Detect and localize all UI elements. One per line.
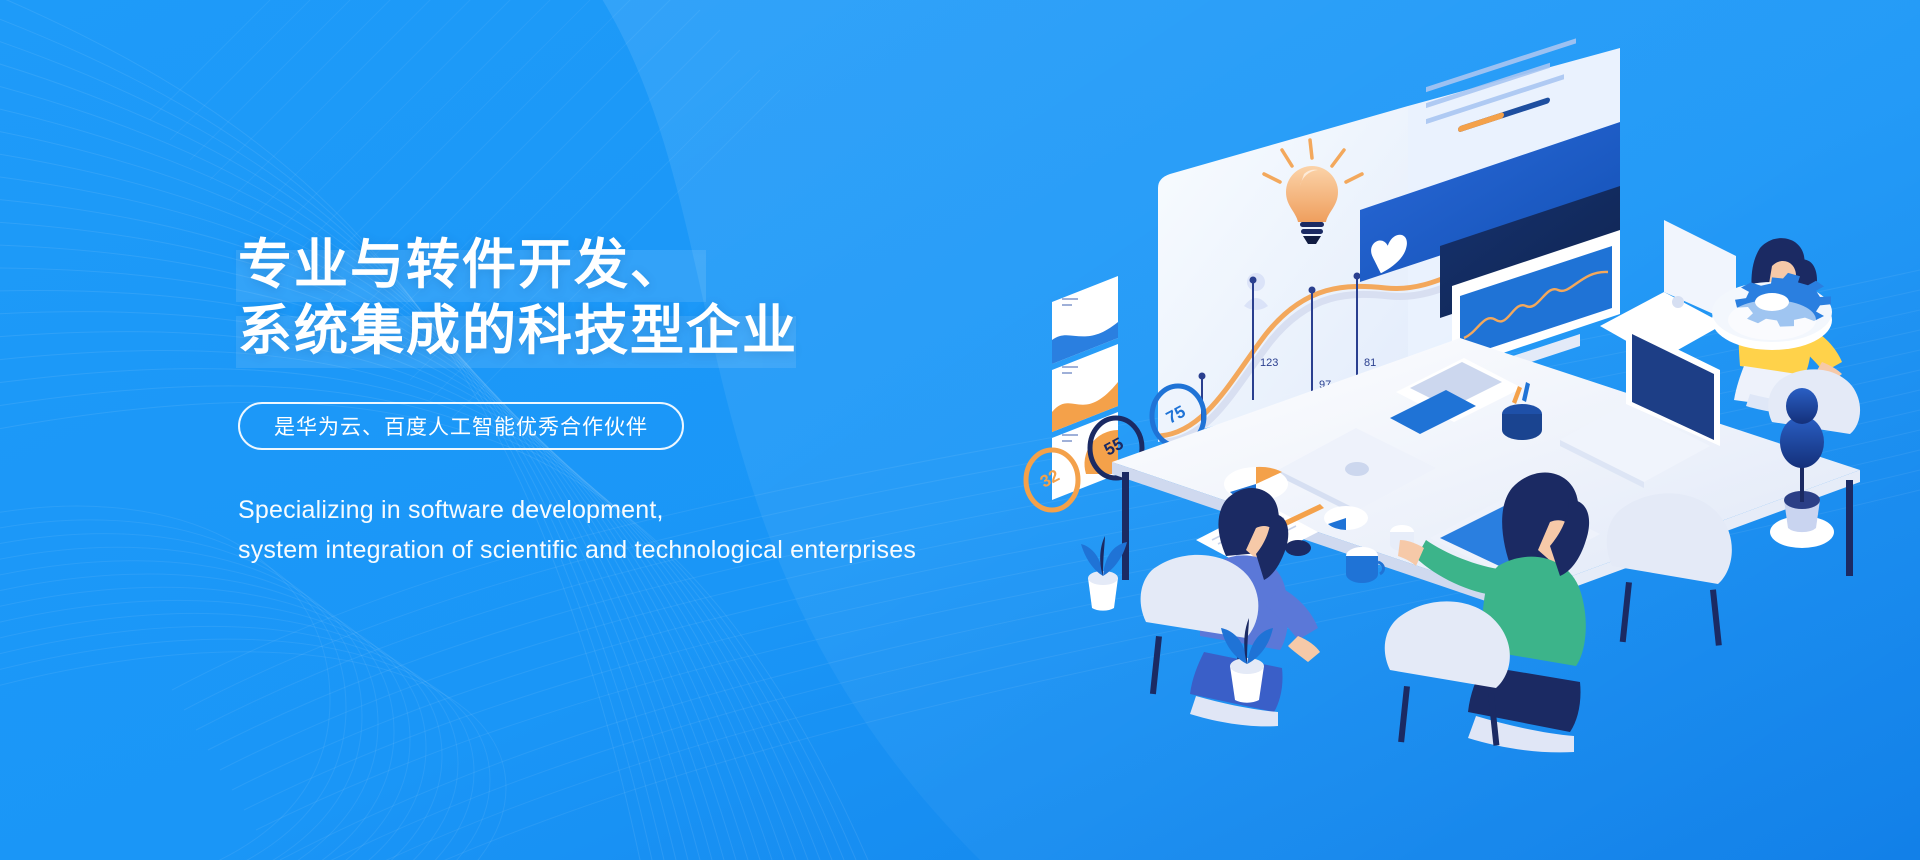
laptop-icon (1600, 220, 1736, 360)
headline-line-1: 专业与转件开发、 (238, 232, 1118, 298)
chart-label-123: 123 (1260, 357, 1278, 369)
partner-badge: 是华为云、百度人工智能优秀合作伙伴 (238, 402, 684, 450)
hero-copy-block: 专业与转件开发、 系统集成的科技型企业 是华为云、百度人工智能优秀合作伙伴 Sp… (238, 232, 1118, 570)
subtitle: Specializing in software development, sy… (238, 490, 1118, 570)
subtitle-line-1: Specializing in software development, (238, 490, 1118, 530)
chair-right (1607, 493, 1732, 645)
chart-label-81: 81 (1364, 357, 1376, 369)
pie-chart-small-icon (1324, 506, 1368, 530)
subtitle-line-2: system integration of scientific and tec… (238, 530, 1118, 570)
headline-line-2: 系统集成的科技型企业 (238, 298, 1118, 364)
page-title: 专业与转件开发、 系统集成的科技型企业 (238, 232, 1118, 364)
hero-banner: 专业与转件开发、 系统集成的科技型企业 是华为云、百度人工智能优秀合作伙伴 Sp… (0, 0, 1920, 860)
isometric-office-illustration: 65 123 97 81 (1060, 70, 1920, 690)
mouse-icon (1285, 540, 1311, 556)
plant-front-left (1081, 536, 1127, 611)
mini-card-stack (1052, 276, 1118, 500)
